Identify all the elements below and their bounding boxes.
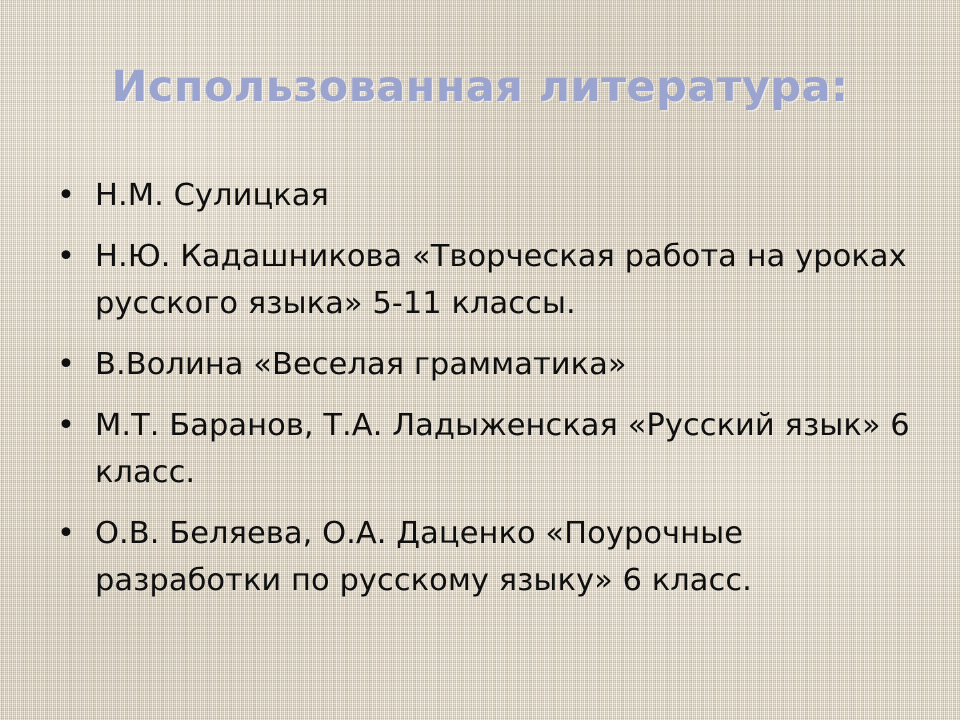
slide-content: Использованная литература: • Н.М. Сулицк…	[0, 0, 960, 720]
bullet-icon: •	[57, 172, 79, 219]
bullet-icon: •	[57, 233, 79, 280]
bullet-icon: •	[57, 510, 79, 557]
page-title: Использованная литература:	[0, 62, 960, 112]
bullet-icon: •	[57, 402, 79, 449]
list-item: • О.В. Беляева, О.А. Даценко «Поурочные …	[48, 510, 918, 604]
references-list: • Н.М. Сулицкая • Н.Ю. Кадашникова «Твор…	[48, 172, 918, 604]
list-item: • В.Волина «Веселая грамматика»	[48, 341, 918, 388]
bullet-icon: •	[57, 341, 79, 388]
list-item-label: М.Т. Баранов, Т.А. Ладыженская «Русский …	[95, 402, 918, 496]
list-item-label: Н.М. Сулицкая	[95, 172, 918, 219]
presentation-slide: Использованная литература: • Н.М. Сулицк…	[0, 0, 960, 720]
list-item-label: О.В. Беляева, О.А. Даценко «Поурочные ра…	[95, 510, 918, 604]
list-item: • М.Т. Баранов, Т.А. Ладыженская «Русски…	[48, 402, 918, 496]
list-item-label: Н.Ю. Кадашникова «Творческая работа на у…	[95, 233, 918, 327]
list-item: • Н.Ю. Кадашникова «Творческая работа на…	[48, 233, 918, 327]
list-item-label: В.Волина «Веселая грамматика»	[95, 341, 918, 388]
list-item: • Н.М. Сулицкая	[48, 172, 918, 219]
